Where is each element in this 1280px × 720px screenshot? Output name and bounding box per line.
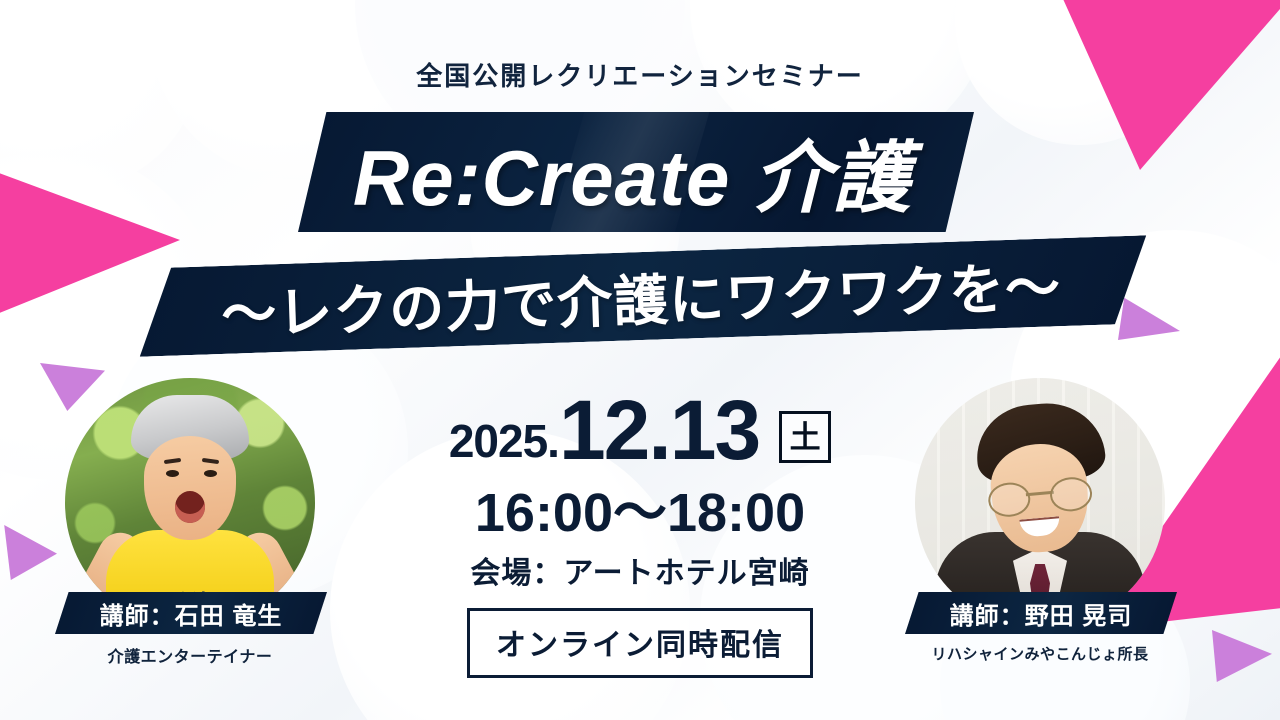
event-venue: 会場：アートホテル宮崎 xyxy=(330,548,950,592)
speaker-nameplate: 講師：石田 竜生 xyxy=(55,592,327,634)
speaker-photo-ishida: カイゴ エンターテイメント xyxy=(65,378,315,628)
eyebrow-headline: 全国公開レクリエーションセミナー xyxy=(0,56,1280,93)
event-date: 12.13 xyxy=(559,392,759,469)
speaker-card-ishida: カイゴ エンターテイメント 講師：石田 竜生 介護エンターテイナー xyxy=(55,378,325,667)
purple-triangle-right-upper xyxy=(1118,295,1180,340)
speaker-role: 介護エンターテイナー xyxy=(55,643,325,667)
purple-triangle-right-lower xyxy=(1212,630,1272,682)
seminar-poster: 全国公開レクリエーションセミナー Re:Create 介護 〜レクの力で介護にワ… xyxy=(0,0,1280,720)
page-subtitle: 〜レクの力で介護にワクワクを〜 xyxy=(220,242,1062,350)
page-title: Re:Create 介護 xyxy=(353,116,911,228)
main-title-banner: Re:Create 介護 xyxy=(298,112,974,232)
event-year: 2025. xyxy=(449,418,559,469)
purple-triangle-left-lower xyxy=(2,525,57,580)
eye-left xyxy=(166,470,179,477)
pink-triangle-top-left xyxy=(0,85,180,335)
open-mouth xyxy=(175,491,205,523)
event-date-row: 2025. 12.13 土 xyxy=(330,392,950,469)
event-time: 16:00〜18:00 xyxy=(330,485,950,542)
online-stream-badge: オンライン同時配信 xyxy=(467,608,813,678)
eye-right xyxy=(204,470,217,477)
subtitle-banner: 〜レクの力で介護にワクワクを〜 xyxy=(137,235,1149,356)
event-weekday-badge: 土 xyxy=(779,411,831,463)
bokeh-circle xyxy=(0,0,200,190)
event-info: 2025. 12.13 土 16:00〜18:00 会場：アートホテル宮崎 オン… xyxy=(330,392,950,678)
speaker-photo-noda xyxy=(915,378,1165,628)
face xyxy=(144,436,236,540)
